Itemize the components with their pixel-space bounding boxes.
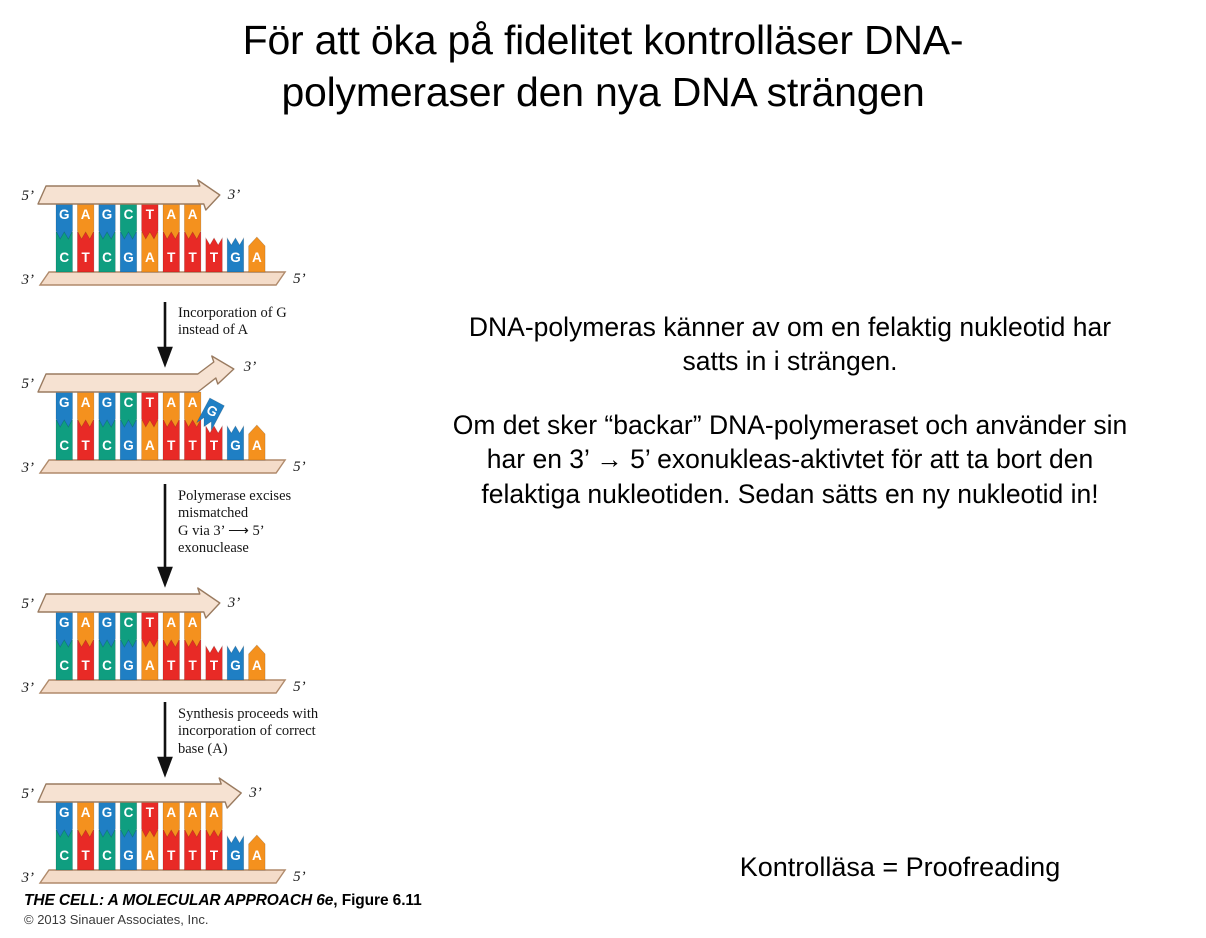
svg-text:C: C <box>124 805 134 820</box>
svg-text:T: T <box>189 438 198 453</box>
svg-text:G: G <box>102 207 113 222</box>
footnote-proofreading: Kontrolläsa = Proofreading <box>640 852 1160 883</box>
svg-text:T: T <box>167 658 176 673</box>
template-backbone <box>40 272 285 285</box>
svg-text:C: C <box>102 848 112 863</box>
label-new-strand-5-prime: 5’ <box>22 786 35 802</box>
svg-text:A: A <box>188 207 198 222</box>
svg-text:C: C <box>59 848 69 863</box>
svg-text:T: T <box>189 848 198 863</box>
step-2-line-1: Polymerase excises <box>178 488 291 505</box>
panel-3-svg: CTCGATTTGAGAGCTAA5’3’3’5’ <box>18 586 378 704</box>
template-base-t-8: T <box>206 238 223 272</box>
new-strand-backbone-arrow <box>38 356 234 392</box>
step-1-line-1: Incorporation of G <box>178 305 287 322</box>
template-base-g-4: G <box>120 420 137 460</box>
body-text-block: DNA-polymeras känner av om en felaktig n… <box>447 310 1133 511</box>
panel-2-svg: CTCGATTTGAGAGCTAAG5’3’3’5’ <box>18 366 378 484</box>
svg-text:A: A <box>81 805 91 820</box>
template-base-t-8: T <box>206 426 223 460</box>
template-base-t-7: T <box>184 830 201 870</box>
svg-text:A: A <box>252 658 262 673</box>
body-paragraph-2: Om det sker “backar” DNA-polymeraset och… <box>447 408 1133 511</box>
paragraph-spacer <box>447 379 1133 408</box>
label-new-strand-5-prime: 5’ <box>22 188 35 204</box>
step-3-line-2: incorporation of correct <box>178 723 318 740</box>
panel-4-svg: CTCGATTTGAGAGCTAAA5’3’3’5’ <box>18 776 378 894</box>
figure-credit: THE CELL: A MOLECULAR APPROACH 6e, Figur… <box>24 892 444 927</box>
svg-text:A: A <box>188 615 198 630</box>
template-base-a-5: A <box>142 420 159 460</box>
svg-text:G: G <box>123 250 134 265</box>
page-title-line-2: polymeraser den nya DNA strängen <box>60 66 1146 118</box>
svg-text:A: A <box>188 805 198 820</box>
svg-text:G: G <box>123 658 134 673</box>
label-template-3-prime: 3’ <box>21 272 35 288</box>
figure-credit-number: , Figure 6.11 <box>333 892 421 909</box>
label-new-strand-3-prime: 3’ <box>227 595 241 611</box>
svg-text:C: C <box>59 658 69 673</box>
svg-text:A: A <box>188 395 198 410</box>
template-base-a-5: A <box>142 232 159 272</box>
label-template-5-prime: 5’ <box>293 679 306 695</box>
label-new-strand-3-prime: 3’ <box>227 187 241 203</box>
slide-canvas: För att öka på fidelitet kontrolläser DN… <box>0 0 1206 938</box>
svg-text:C: C <box>59 250 69 265</box>
svg-text:A: A <box>145 250 155 265</box>
template-base-c-3: C <box>99 232 116 272</box>
svg-text:T: T <box>167 848 176 863</box>
svg-text:A: A <box>81 395 91 410</box>
template-base-t-2: T <box>77 830 94 870</box>
label-template-5-prime: 5’ <box>293 271 306 287</box>
panel-1-svg: CTCGATTTGAGAGCTAA5’3’3’5’ <box>18 178 378 296</box>
template-base-c-1: C <box>56 830 73 870</box>
svg-text:T: T <box>82 438 91 453</box>
template-base-t-6: T <box>163 830 180 870</box>
page-title-line-1: För att öka på fidelitet kontrolläser DN… <box>60 14 1146 66</box>
svg-text:A: A <box>252 250 262 265</box>
svg-text:T: T <box>82 250 91 265</box>
svg-text:A: A <box>166 805 176 820</box>
svg-text:T: T <box>82 658 91 673</box>
template-base-t-7: T <box>184 640 201 680</box>
template-base-t-6: T <box>163 420 180 460</box>
template-base-t-6: T <box>163 232 180 272</box>
svg-text:A: A <box>166 615 176 630</box>
step-1-line-2: instead of A <box>178 322 287 339</box>
svg-text:T: T <box>210 438 219 453</box>
svg-text:A: A <box>145 848 155 863</box>
svg-text:T: T <box>210 848 219 863</box>
template-base-t-6: T <box>163 640 180 680</box>
page-title: För att öka på fidelitet kontrolläser DN… <box>60 14 1146 119</box>
template-base-g-9: G <box>227 426 244 460</box>
dna-proofreading-figure: CTCGATTTGAGAGCTAA5’3’3’5’ Incorporation … <box>18 178 378 938</box>
label-template-5-prime: 5’ <box>293 869 306 885</box>
figure-panel-1: CTCGATTTGAGAGCTAA5’3’3’5’ <box>18 178 378 296</box>
svg-text:G: G <box>59 207 70 222</box>
svg-text:T: T <box>210 658 219 673</box>
svg-text:C: C <box>102 250 112 265</box>
svg-text:T: T <box>146 207 155 222</box>
svg-text:G: G <box>123 438 134 453</box>
step-2-line-4: exonuclease <box>178 540 291 557</box>
template-base-t-8: T <box>206 830 223 870</box>
svg-text:T: T <box>82 848 91 863</box>
template-base-g-9: G <box>227 238 244 272</box>
svg-text:G: G <box>59 805 70 820</box>
template-base-t-2: T <box>77 232 94 272</box>
label-template-5-prime: 5’ <box>293 459 306 475</box>
template-base-c-1: C <box>56 420 73 460</box>
label-new-strand-3-prime: 3’ <box>243 359 256 375</box>
step-2-line-3: G via 3’ ⟶ 5’ <box>178 523 291 540</box>
svg-text:C: C <box>102 658 112 673</box>
svg-text:A: A <box>166 395 176 410</box>
template-base-c-1: C <box>56 232 73 272</box>
svg-text:C: C <box>124 615 134 630</box>
template-backbone <box>40 460 285 473</box>
svg-text:T: T <box>167 250 176 265</box>
template-base-c-3: C <box>99 420 116 460</box>
template-base-g-4: G <box>120 640 137 680</box>
label-template-3-prime: 3’ <box>21 460 35 476</box>
template-base-t-8: T <box>206 646 223 680</box>
label-new-strand-5-prime: 5’ <box>22 376 35 392</box>
svg-text:G: G <box>59 615 70 630</box>
svg-text:A: A <box>252 438 262 453</box>
figure-panel-4: CTCGATTTGAGAGCTAAA5’3’3’5’ <box>18 776 378 894</box>
template-base-a-10: A <box>249 645 266 680</box>
label-new-strand-5-prime: 5’ <box>22 596 35 612</box>
svg-text:T: T <box>146 395 155 410</box>
template-base-t-2: T <box>77 640 94 680</box>
template-base-c-3: C <box>99 640 116 680</box>
svg-text:G: G <box>102 615 113 630</box>
figure-credit-line-2: © 2013 Sinauer Associates, Inc. <box>24 912 444 927</box>
template-base-g-9: G <box>227 646 244 680</box>
template-base-t-7: T <box>184 232 201 272</box>
step-label-1: Incorporation of Ginstead of A <box>178 305 287 340</box>
template-backbone <box>40 870 285 883</box>
body-paragraph-1: DNA-polymeras känner av om en felaktig n… <box>447 310 1133 379</box>
svg-text:G: G <box>230 658 241 673</box>
svg-text:G: G <box>102 395 113 410</box>
svg-text:A: A <box>145 658 155 673</box>
svg-text:T: T <box>146 615 155 630</box>
step-3-line-3: base (A) <box>178 741 318 758</box>
template-base-g-4: G <box>120 232 137 272</box>
svg-text:G: G <box>230 250 241 265</box>
svg-text:C: C <box>102 438 112 453</box>
step-3-line-1: Synthesis proceeds with <box>178 706 318 723</box>
svg-text:T: T <box>210 250 219 265</box>
template-base-a-10: A <box>249 237 266 272</box>
svg-text:T: T <box>167 438 176 453</box>
figure-panel-2: CTCGATTTGAGAGCTAAG5’3’3’5’ <box>18 366 378 484</box>
svg-text:G: G <box>230 848 241 863</box>
svg-text:G: G <box>102 805 113 820</box>
svg-text:G: G <box>123 848 134 863</box>
svg-text:T: T <box>189 658 198 673</box>
svg-text:A: A <box>209 805 219 820</box>
svg-text:A: A <box>81 207 91 222</box>
label-new-strand-3-prime: 3’ <box>248 785 262 801</box>
template-base-a-5: A <box>142 640 159 680</box>
figure-credit-line-1: THE CELL: A MOLECULAR APPROACH 6e, Figur… <box>24 892 444 910</box>
svg-text:C: C <box>124 395 134 410</box>
template-base-a-10: A <box>249 425 266 460</box>
template-base-t-2: T <box>77 420 94 460</box>
svg-text:G: G <box>230 438 241 453</box>
template-base-t-7: T <box>184 420 201 460</box>
figure-panel-3: CTCGATTTGAGAGCTAA5’3’3’5’ <box>18 586 378 704</box>
svg-text:A: A <box>145 438 155 453</box>
label-template-3-prime: 3’ <box>21 680 35 696</box>
svg-text:T: T <box>146 805 155 820</box>
template-base-c-3: C <box>99 830 116 870</box>
template-base-c-1: C <box>56 640 73 680</box>
svg-text:A: A <box>81 615 91 630</box>
step-label-2: Polymerase excisesmismatchedG via 3’ ⟶ 5… <box>178 488 291 558</box>
template-base-a-10: A <box>249 835 266 870</box>
template-base-g-9: G <box>227 836 244 870</box>
label-template-3-prime: 3’ <box>21 870 35 886</box>
svg-text:A: A <box>166 207 176 222</box>
svg-text:G: G <box>59 395 70 410</box>
svg-text:C: C <box>124 207 134 222</box>
template-base-a-5: A <box>142 830 159 870</box>
svg-text:C: C <box>59 438 69 453</box>
svg-text:T: T <box>189 250 198 265</box>
svg-text:A: A <box>252 848 262 863</box>
step-2-line-2: mismatched <box>178 505 291 522</box>
template-base-g-4: G <box>120 830 137 870</box>
figure-credit-book: THE CELL: A MOLECULAR APPROACH 6e <box>24 892 333 909</box>
template-backbone <box>40 680 285 693</box>
step-label-3: Synthesis proceeds withincorporation of … <box>178 706 318 758</box>
